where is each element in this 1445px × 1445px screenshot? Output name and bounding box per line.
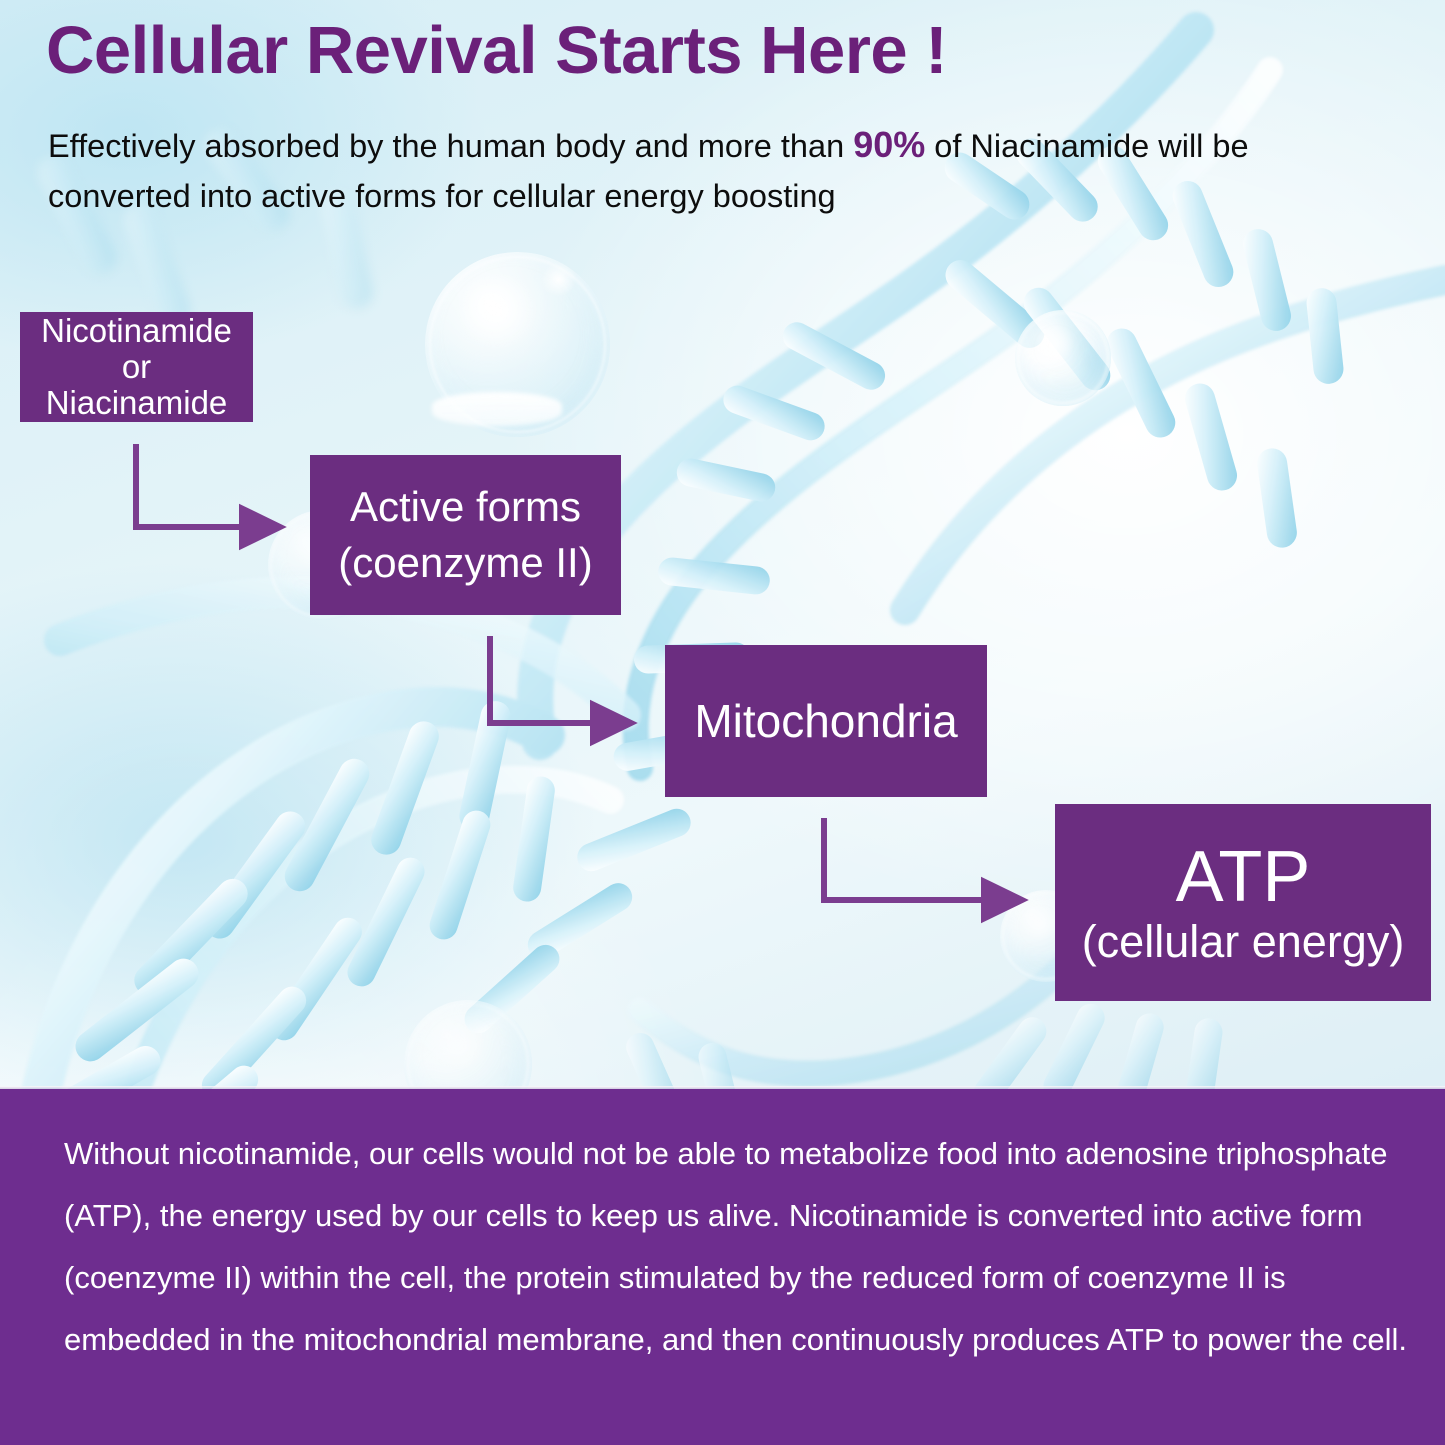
flow-box-active-forms-line1: Active forms: [310, 479, 621, 535]
flow-box-mitochondria-label: Mitochondria: [665, 694, 987, 748]
flow-box-mitochondria: Mitochondria: [665, 645, 987, 797]
flow-box-nicotinamide-line3: Niacinamide: [20, 385, 253, 421]
flow-box-atp-title: ATP: [1055, 838, 1431, 916]
page-title: Cellular Revival Starts Here !: [46, 12, 947, 89]
flow-box-atp-subtitle: (cellular energy): [1055, 916, 1431, 968]
flow-box-active-forms: Active forms (coenzyme II): [310, 455, 621, 615]
flow-box-nicotinamide-line2: or: [20, 349, 253, 385]
subheading-part-1: Effectively absorbed by the human body a…: [48, 128, 853, 164]
bubble-small-right: [1015, 310, 1111, 406]
flow-box-atp: ATP (cellular energy): [1055, 804, 1431, 1001]
description-paragraph: Without nicotinamide, our cells would no…: [64, 1123, 1409, 1371]
subheading-percentage: 90%: [853, 124, 925, 165]
flow-box-nicotinamide-line1: Nicotinamide: [20, 313, 253, 349]
subheading: Effectively absorbed by the human body a…: [48, 120, 1388, 221]
bubble-large-top-band: [432, 392, 562, 426]
description-panel: Without nicotinamide, our cells would no…: [0, 1089, 1445, 1445]
flow-box-active-forms-line2: (coenzyme II): [310, 535, 621, 591]
infographic-canvas: Cellular Revival Starts Here ! Effective…: [0, 0, 1445, 1445]
flow-box-nicotinamide: Nicotinamide or Niacinamide: [20, 312, 253, 422]
